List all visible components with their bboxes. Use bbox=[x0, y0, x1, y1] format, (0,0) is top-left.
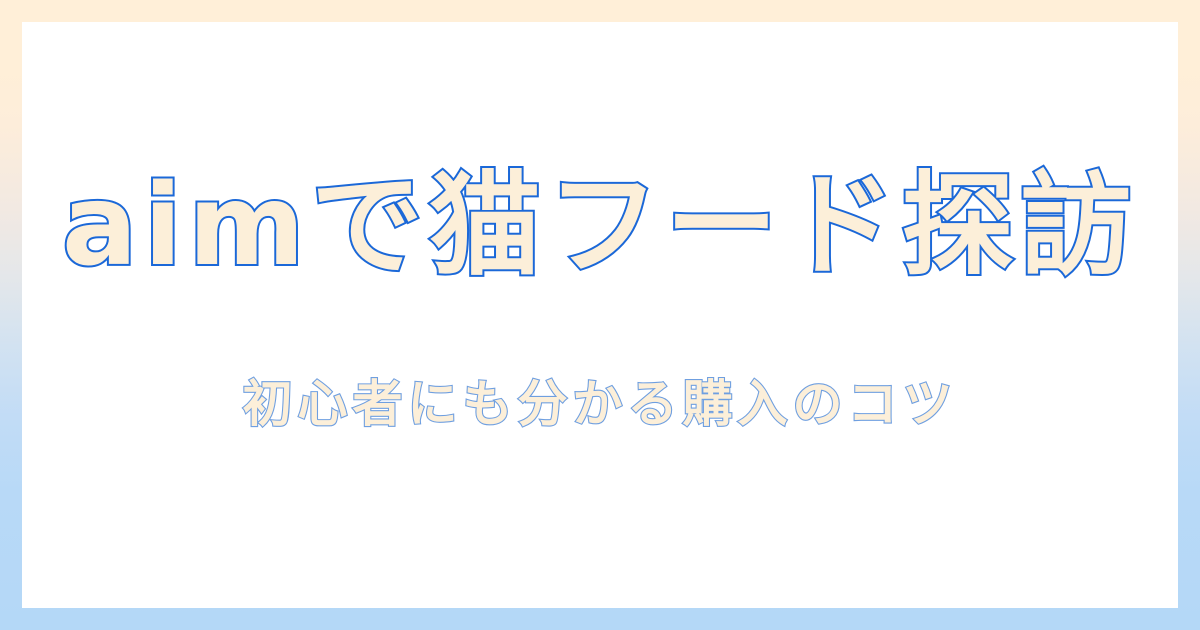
banner-canvas: aimで猫フード探訪 初心者にも分かる購入のコツ bbox=[0, 0, 1200, 630]
banner-card: aimで猫フード探訪 初心者にも分かる購入のコツ bbox=[22, 22, 1178, 608]
banner-subheadline: 初心者にも分かる購入のコツ bbox=[243, 374, 958, 434]
banner-headline: aimで猫フード探訪 bbox=[62, 164, 1138, 289]
banner-text-stack: aimで猫フード探訪 初心者にも分かる購入のコツ bbox=[22, 164, 1178, 433]
